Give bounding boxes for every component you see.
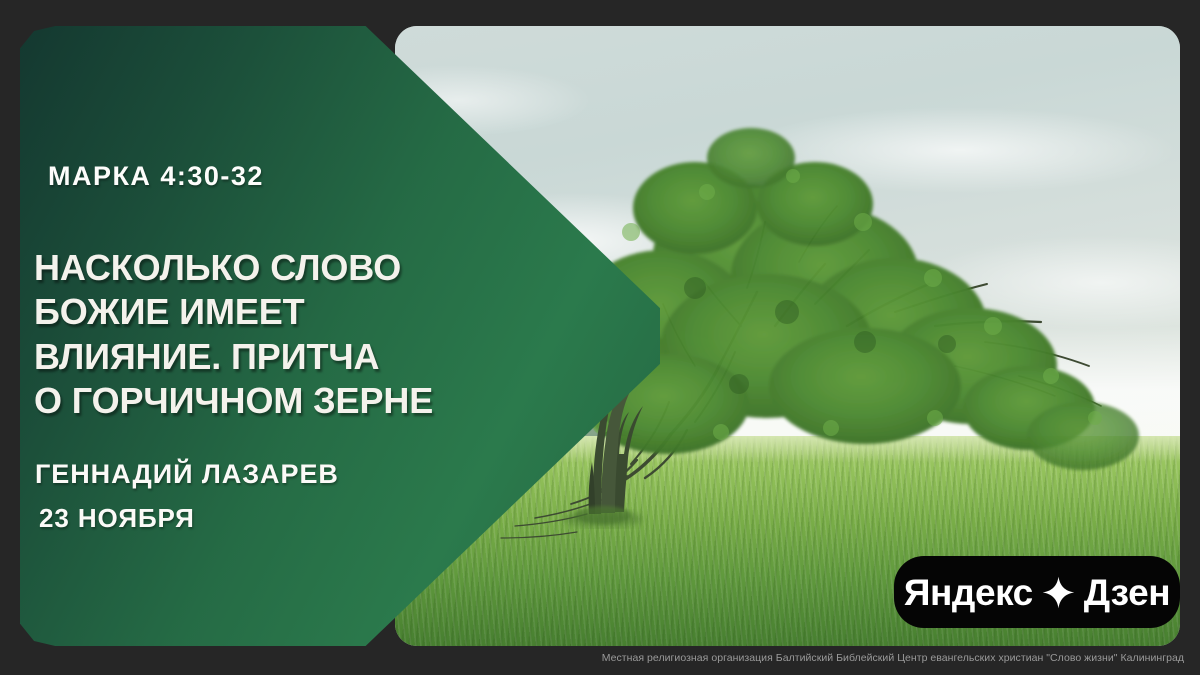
- zen-wordmark: Дзен: [1084, 574, 1170, 611]
- legal-caption: Местная религиозная организация Балтийск…: [0, 652, 1184, 664]
- yandex-wordmark: Яндекс: [904, 574, 1033, 611]
- speaker-name: ГЕННАДИЙ ЛАЗАРЕВ: [35, 459, 339, 490]
- poster-canvas: МАРКА 4:30-32 НАСКОЛЬКО СЛОВО БОЖИЕ ИМЕЕ…: [0, 0, 1200, 675]
- event-date: 23 НОЯБРЯ: [39, 503, 195, 534]
- title-line-2: БОЖИЕ ИМЕЕТ: [34, 290, 554, 334]
- four-point-star-icon: [1042, 576, 1075, 609]
- title-line-1: НАСКОЛЬКО СЛОВО: [34, 246, 554, 290]
- title-line-4: О ГОРЧИЧНОМ ЗЕРНЕ: [34, 379, 554, 423]
- yandex-zen-badge[interactable]: Яндекс Дзен: [894, 556, 1180, 628]
- scripture-reference: МАРКА 4:30-32: [48, 161, 264, 192]
- title-line-3: ВЛИЯНИЕ. ПРИТЧА: [34, 335, 554, 379]
- page-title: НАСКОЛЬКО СЛОВО БОЖИЕ ИМЕЕТ ВЛИЯНИЕ. ПРИ…: [34, 246, 554, 424]
